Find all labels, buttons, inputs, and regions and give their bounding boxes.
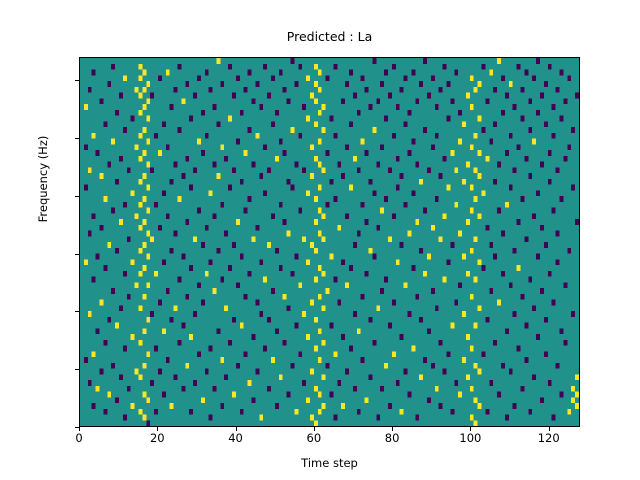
x-tick-mark — [470, 427, 471, 431]
page-title: Predicted : La — [79, 30, 580, 44]
x-tick-label: 20 — [117, 431, 197, 445]
x-tick-mark — [314, 427, 315, 431]
y-tick-mark — [75, 80, 79, 81]
x-tick-label: 40 — [196, 431, 276, 445]
x-tick-label: 100 — [430, 431, 510, 445]
y-tick-mark — [75, 138, 79, 139]
x-tick-mark — [392, 427, 393, 431]
x-tick-mark — [549, 427, 550, 431]
x-tick-mark — [157, 427, 158, 431]
y-tick-mark — [75, 196, 79, 197]
y-tick-mark — [75, 254, 79, 255]
y-tick-mark — [75, 369, 79, 370]
x-tick-mark — [79, 427, 80, 431]
x-tick-label: 0 — [39, 431, 119, 445]
y-tick-mark — [75, 311, 79, 312]
x-axis-label: Time step — [79, 456, 580, 470]
y-axis-label: Frequency (Hz) — [36, 79, 50, 279]
x-tick-label: 80 — [352, 431, 432, 445]
x-tick-label: 120 — [509, 431, 589, 445]
x-tick-label: 60 — [274, 431, 354, 445]
heatmap-axes — [79, 57, 580, 427]
heatmap-canvas — [80, 58, 579, 426]
matplotlib-figure: Predicted : La Frequency (Hz) Time step … — [0, 0, 640, 480]
x-tick-mark — [236, 427, 237, 431]
